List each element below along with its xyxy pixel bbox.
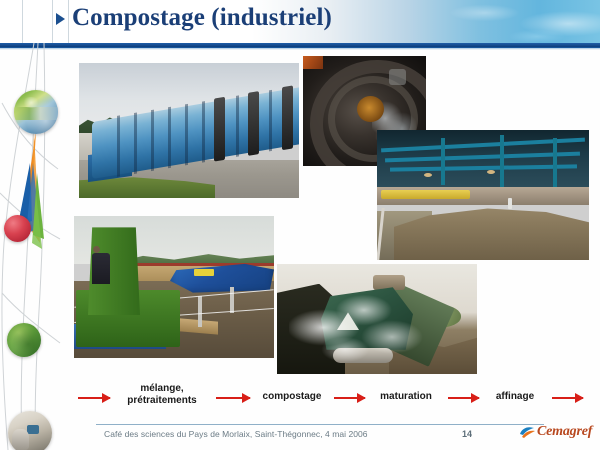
turner-driver-body (92, 253, 110, 284)
hall-post (500, 135, 504, 187)
flow-arrow-4 (552, 397, 583, 399)
flow-step-melange: mélange, prétraitements (116, 383, 208, 407)
flow-step-melange-line2: prétraitements (127, 395, 196, 406)
header-tick-2 (68, 0, 69, 43)
header-sky-texture (390, 0, 600, 43)
flow-arrow-3 (448, 397, 479, 399)
hall-post (553, 138, 557, 190)
hall-post (441, 138, 445, 185)
flow-arrow-2 (334, 397, 365, 399)
photo-composting-hall (377, 130, 589, 260)
flow-step-maturation: maturation (370, 391, 442, 403)
flow-arrow-0 (78, 397, 110, 399)
turner-driver-head (93, 246, 100, 253)
cemagref-logo-text: Cemagref (537, 424, 592, 440)
cemagref-logo: Cemagref (519, 424, 592, 440)
drum-interior-hatch (389, 69, 406, 84)
footer-event-text: Café des sciences du Pays de Morlaix, Sa… (104, 429, 368, 439)
header-tick-1 (52, 0, 53, 43)
photo-sphere-lab-icon (8, 411, 52, 450)
header-rule-highlight (0, 48, 600, 50)
slide-root: Compostage (industriel) (0, 0, 600, 450)
footer-page-number: 14 (462, 429, 472, 439)
photo-windrow-turner-tarp (74, 216, 274, 358)
photo-windrow-turner-steam (277, 264, 477, 374)
hall-lamp (424, 173, 432, 177)
flow-step-melange-line1: mélange, (140, 383, 183, 394)
flow-step-compostage: compostage (256, 391, 328, 403)
photo-rotating-drum-exterior (79, 63, 299, 198)
cemagref-leaf-icon (519, 425, 536, 440)
flow-arrow-1 (216, 397, 250, 399)
hall-worker (508, 198, 512, 209)
page-title: Compostage (industriel) (72, 4, 332, 32)
header-tick-3 (22, 0, 23, 43)
turner-fence-post (230, 287, 234, 313)
process-flow-diagram: mélange, prétraitements compostage matur… (0, 382, 600, 416)
turner-tarp-marker (194, 269, 214, 276)
flow-step-affinage: affinage (484, 391, 546, 403)
drum-interior-flare (303, 56, 323, 69)
sphere-green-icon (7, 323, 41, 357)
photo-sphere-nature-icon (14, 90, 58, 134)
triangle-right-icon (56, 13, 65, 25)
steam-turner-drum (333, 348, 393, 363)
turner-fence-post (198, 296, 202, 327)
sphere-red-icon (4, 215, 31, 242)
drum-interior-core (357, 96, 384, 122)
footer-divider (96, 424, 544, 425)
hall-yellow-machine (381, 190, 470, 199)
